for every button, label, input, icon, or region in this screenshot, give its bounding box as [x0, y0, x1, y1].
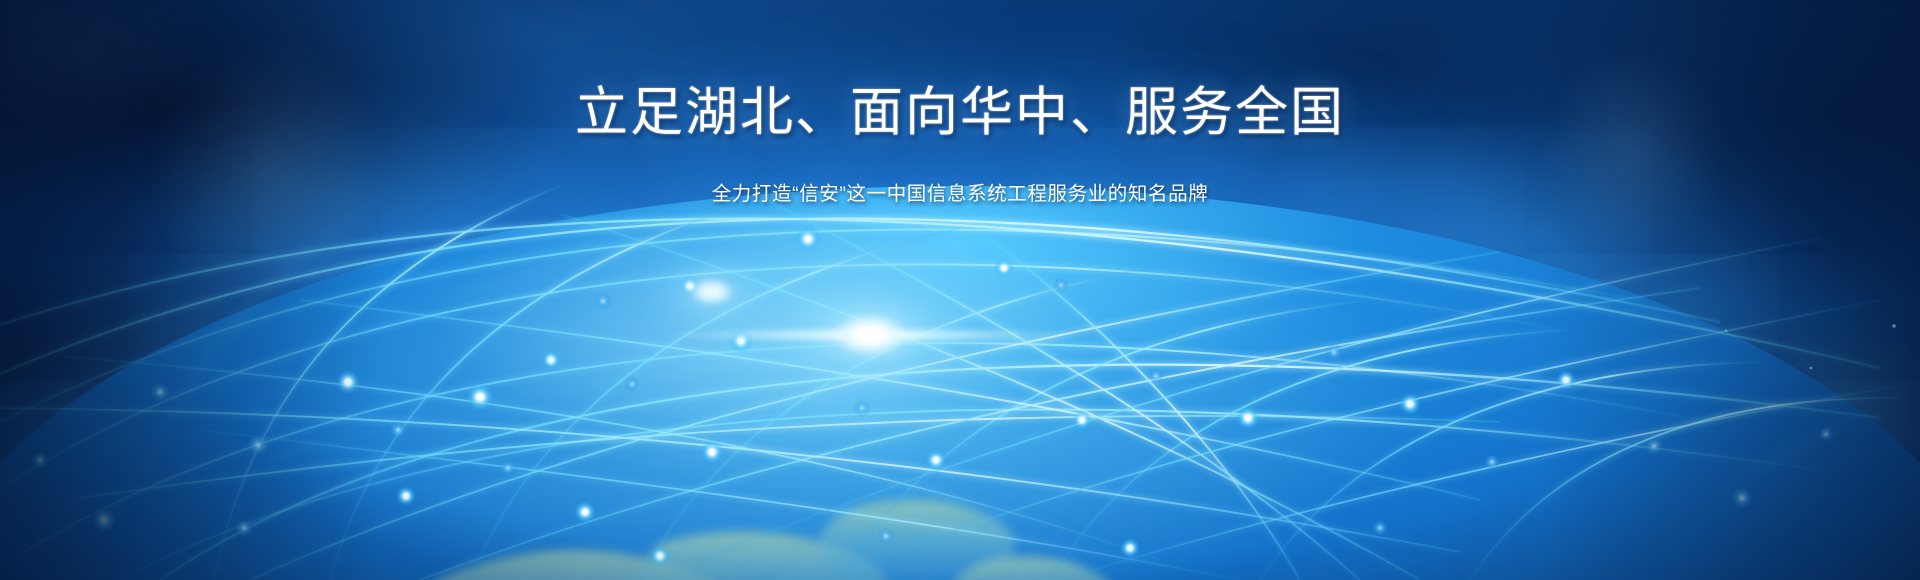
edge-vignette — [0, 0, 1920, 580]
hero-banner: 立足湖北、面向华中、服务全国 全力打造“信安”这一中国信息系统工程服务业的知名品… — [0, 0, 1920, 580]
